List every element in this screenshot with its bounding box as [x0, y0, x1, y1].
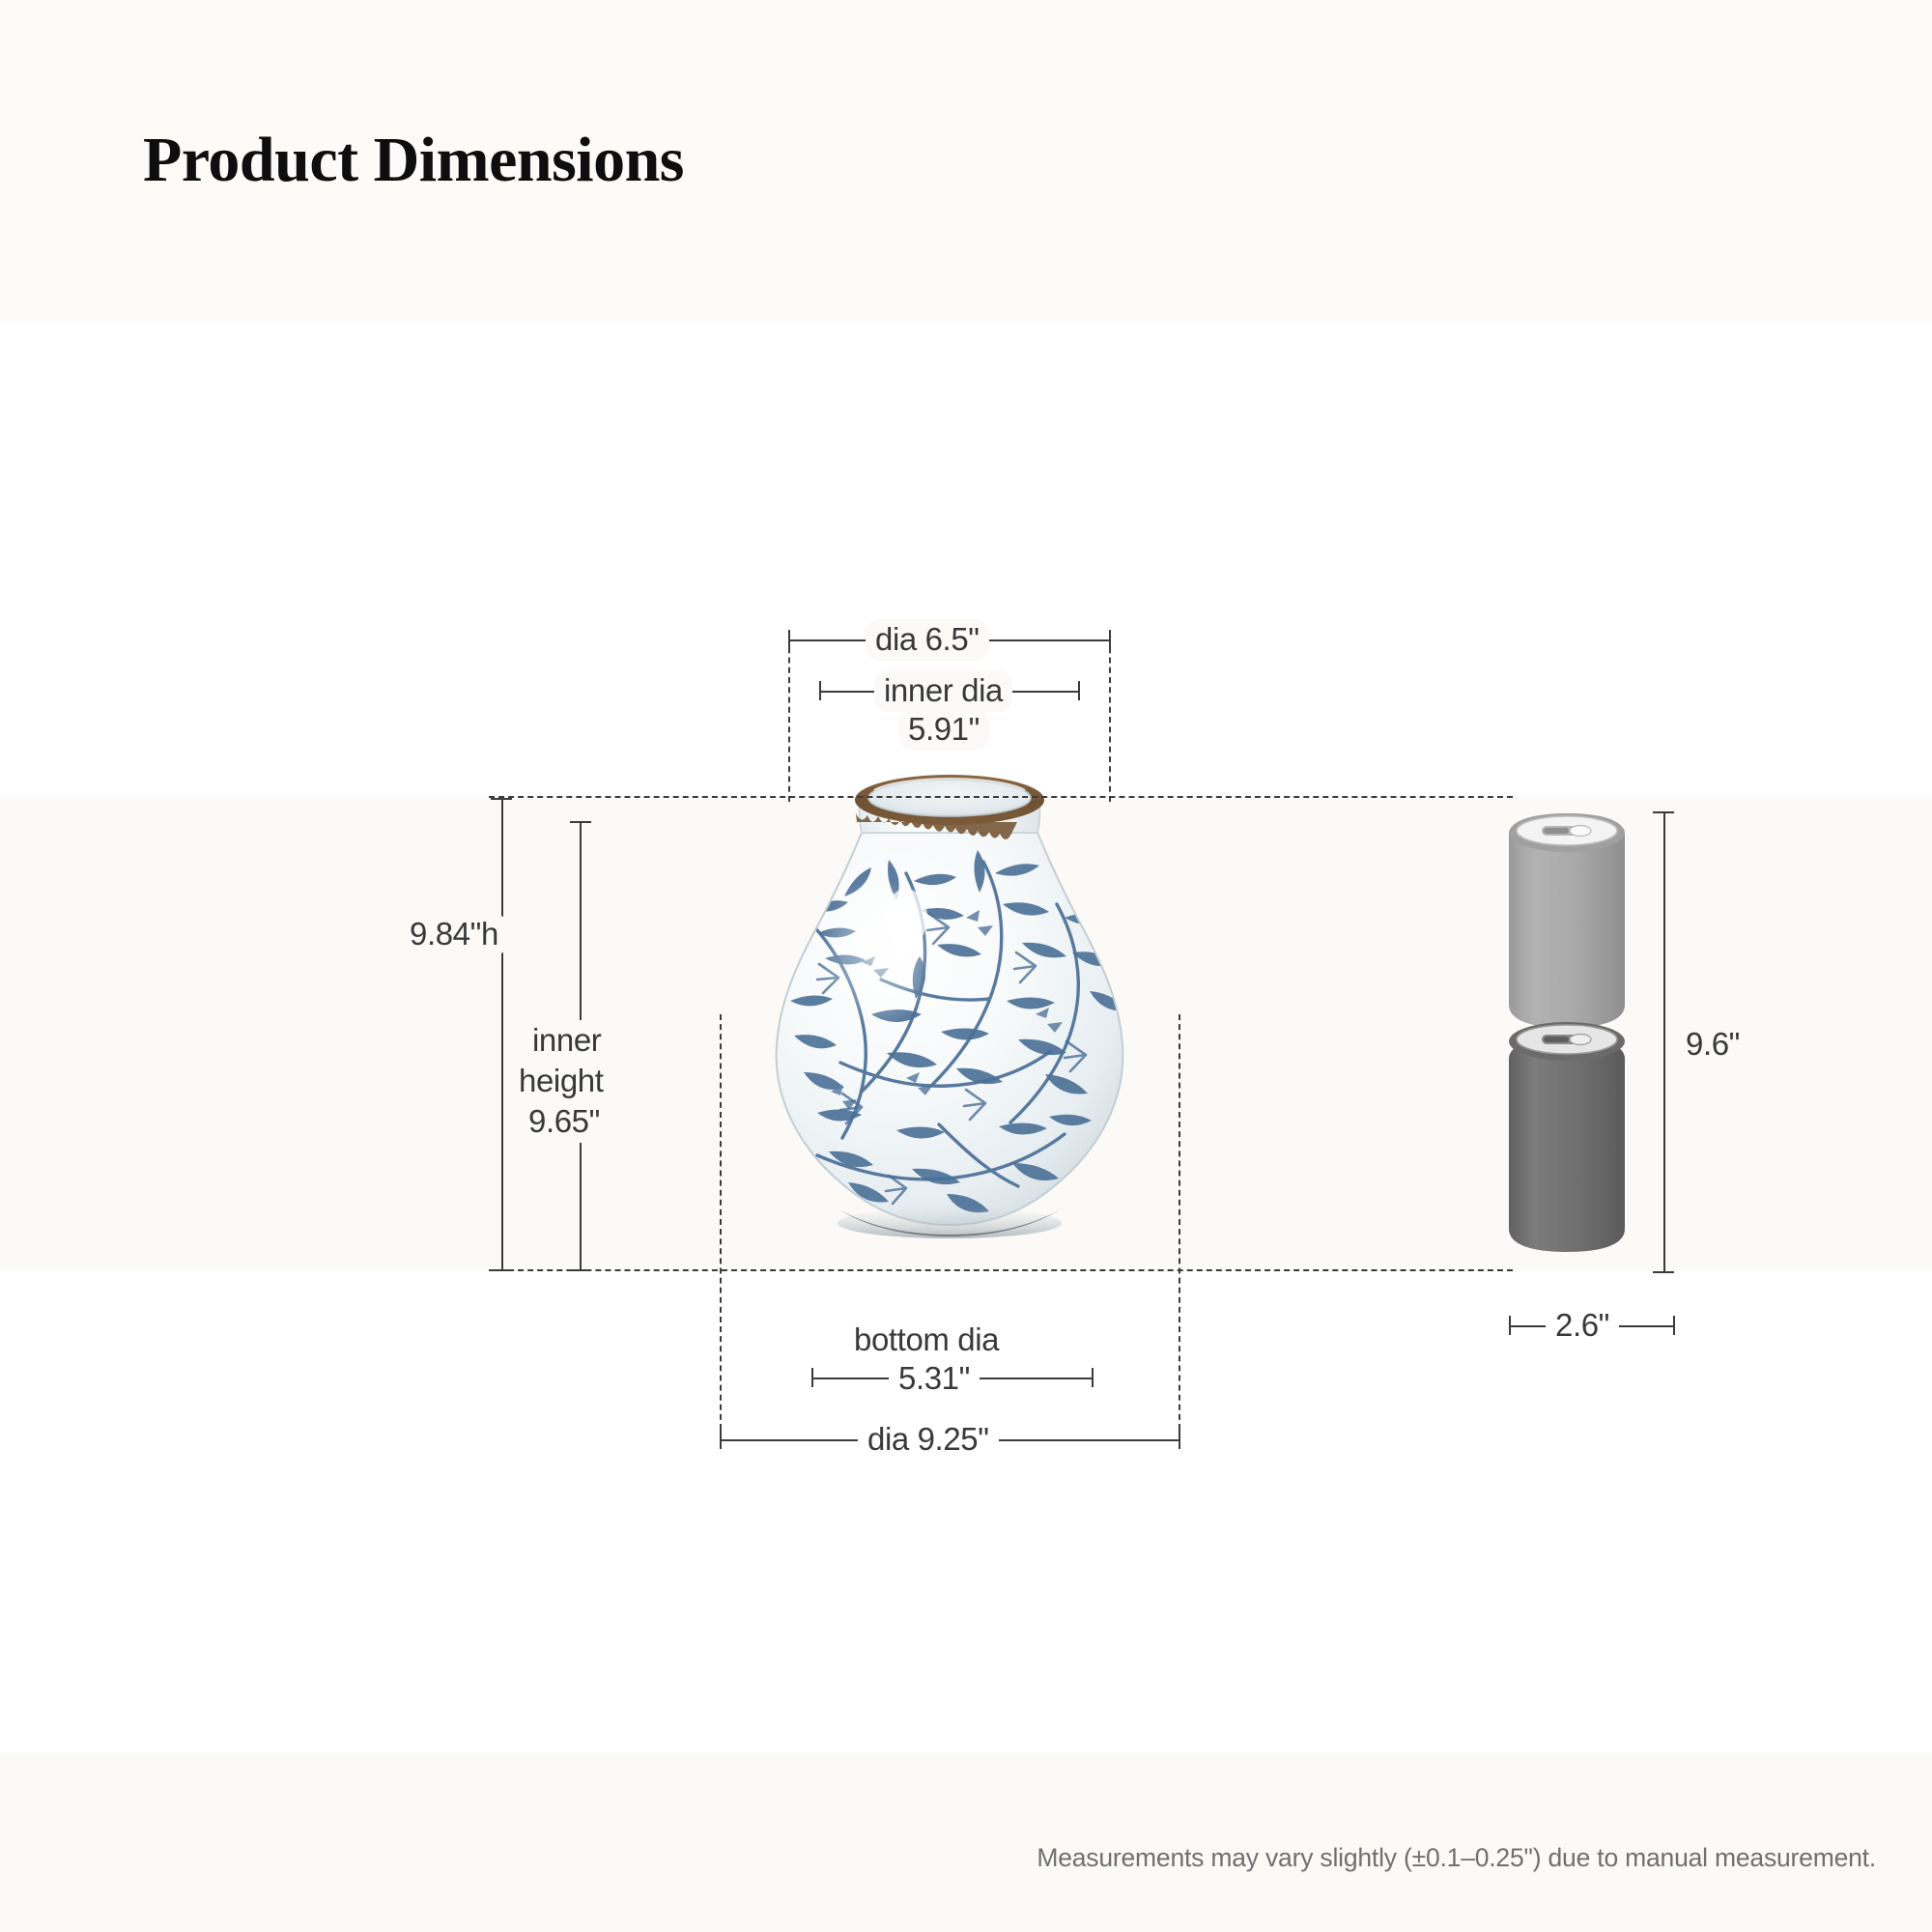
guideline-max-dia-left [720, 1014, 722, 1430]
dim-cap-bottom-dia-left [811, 1368, 813, 1387]
guideline-outer-dia-right [1109, 638, 1111, 802]
label-inner-height-line1: inner [523, 1020, 611, 1062]
dim-cap-inner-dia-left [819, 681, 821, 700]
pull-tab-bottom [1542, 1035, 1591, 1045]
dim-cap-outer-dia-left [788, 630, 790, 649]
label-inner-diameter-value: 5.91" [898, 709, 989, 751]
pull-tab-top [1542, 826, 1591, 837]
vase-body [777, 833, 1128, 1238]
guideline-max-dia-right [1179, 1014, 1180, 1430]
label-inner-height-line2: height [509, 1061, 613, 1102]
label-outer-diameter: dia 6.5" [866, 619, 989, 661]
dim-line-height [501, 798, 503, 1271]
label-inner-diameter-text: inner dia [874, 670, 1012, 712]
vase-illustration [717, 773, 1182, 1275]
vase-base-shadow [838, 1207, 1062, 1238]
dim-cap-can-height-bottom [1653, 1271, 1674, 1273]
dim-cap-max-dia-left [720, 1430, 722, 1449]
dim-cap-height-top [491, 798, 512, 800]
label-inner-height-value: 9.65" [519, 1101, 610, 1143]
product-dimensions-canvas: Product Dimensions [0, 0, 1932, 1932]
dim-cap-inner-height-top [570, 821, 591, 823]
dim-cap-can-width-right [1673, 1316, 1675, 1335]
soda-can-bottom [1509, 1022, 1625, 1252]
measurement-disclaimer: Measurements may vary slightly (±0.1–0.2… [1037, 1843, 1876, 1873]
dim-cap-bottom-dia-right [1092, 1368, 1094, 1387]
guideline-baseline [489, 1269, 1513, 1271]
guideline-top [489, 796, 1513, 798]
dim-cap-can-height-top [1653, 811, 1674, 813]
label-bottom-diameter-value: 5.31" [889, 1358, 980, 1400]
soda-can-top [1509, 813, 1625, 1028]
dim-cap-outer-dia-right [1109, 630, 1111, 649]
dim-line-can-height [1663, 811, 1665, 1271]
label-height: 9.84"h [400, 914, 508, 955]
dim-cap-inner-height-bottom [570, 1269, 591, 1271]
dim-cap-max-dia-right [1179, 1430, 1180, 1449]
dim-cap-inner-dia-right [1078, 681, 1080, 700]
label-bottom-diameter-text: bottom dia [844, 1320, 1009, 1361]
page-title: Product Dimensions [143, 124, 684, 197]
dim-cap-height-bottom [491, 1269, 512, 1271]
dim-cap-can-width-left [1509, 1316, 1511, 1335]
label-can-width: 2.6" [1546, 1305, 1619, 1347]
label-can-height: 9.6" [1676, 1024, 1749, 1065]
guideline-outer-dia-left [788, 638, 790, 802]
label-max-diameter: dia 9.25" [858, 1419, 999, 1461]
